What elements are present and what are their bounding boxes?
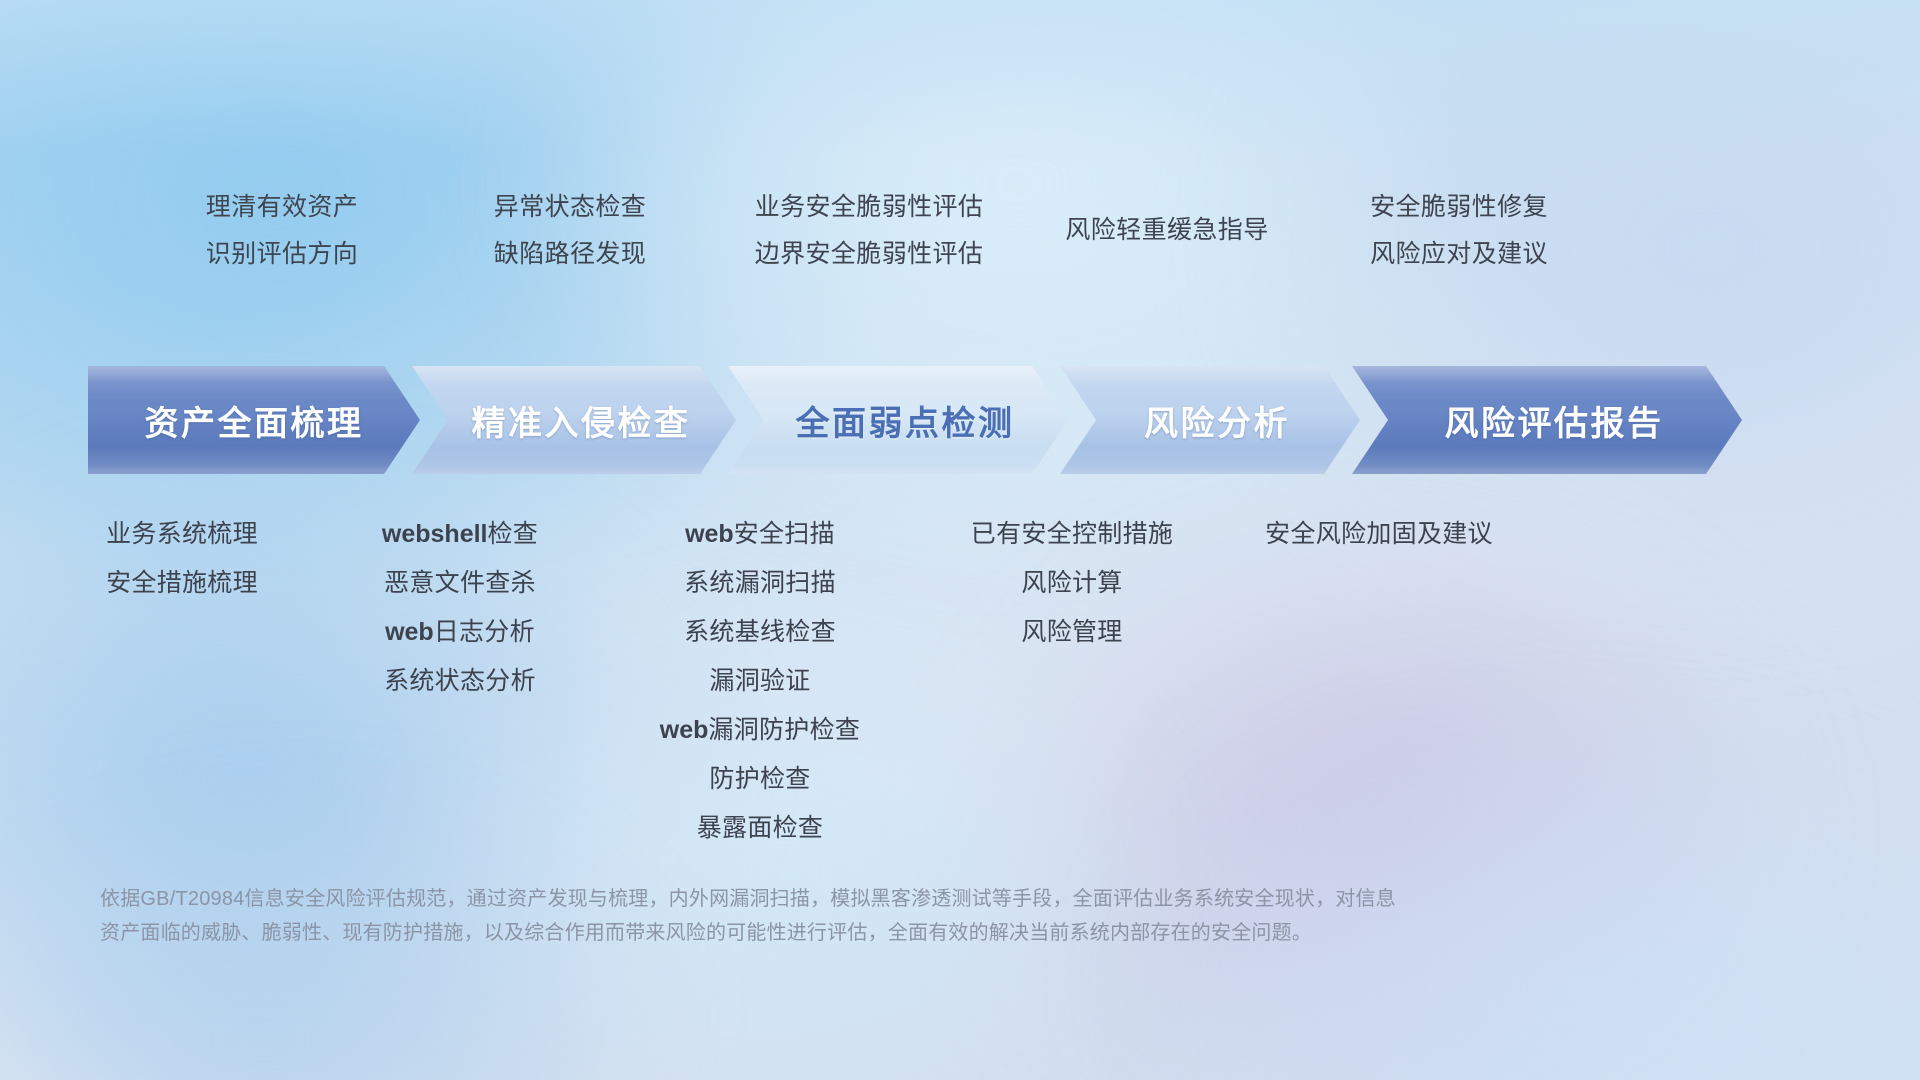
footer-description: 依据GB/T20984信息安全风险评估规范，通过资产发现与梳理，内外网漏洞扫描，… — [100, 882, 1640, 950]
bottom-items-intrusion-check: webshell检查恶意文件查杀web日志分析系统状态分析 — [382, 510, 538, 706]
bottom-item: 系统基线检查 — [660, 608, 860, 657]
top-note-item: 缺陷路径发现 — [494, 231, 646, 278]
bottom-item: web安全扫描 — [660, 510, 860, 559]
top-notes-asset-inventory: 理清有效资产识别评估方向 — [206, 184, 358, 278]
bottom-item: 安全风险加固及建议 — [1265, 510, 1493, 559]
top-notes-intrusion-check: 异常状态检查缺陷路径发现 — [494, 184, 646, 278]
bottom-items-asset-inventory: 业务系统梳理安全措施梳理 — [106, 510, 258, 608]
top-notes-risk-analysis: 风险轻重缓急指导 — [1065, 207, 1268, 254]
top-notes-weakness-detection: 业务安全脆弱性评估边界安全脆弱性评估 — [755, 184, 984, 278]
process-stage-weakness-detection[interactable]: 全面弱点检测 — [728, 366, 1068, 474]
footer-line-1: 依据GB/T20984信息安全风险评估规范，通过资产发现与梳理，内外网漏洞扫描，… — [100, 882, 1640, 916]
bottom-item: 漏洞验证 — [660, 657, 860, 706]
process-stage-risk-analysis[interactable]: 风险分析 — [1060, 366, 1360, 474]
bottom-item: web漏洞防护检查 — [660, 706, 860, 755]
stage-caption: 风险评估报告 — [1445, 396, 1664, 445]
process-diagram: 理清有效资产识别评估方向异常状态检查缺陷路径发现业务安全脆弱性评估边界安全脆弱性… — [0, 0, 1920, 1080]
bottom-item: web日志分析 — [382, 608, 538, 657]
top-note-item: 识别评估方向 — [206, 231, 358, 278]
bottom-items-risk-analysis: 已有安全控制措施风险计算风险管理 — [971, 510, 1173, 657]
bottom-item: 安全措施梳理 — [106, 559, 258, 608]
top-notes-row: 理清有效资产识别评估方向异常状态检查缺陷路径发现业务安全脆弱性评估边界安全脆弱性… — [90, 184, 1850, 294]
stage-caption: 风险分析 — [1144, 396, 1290, 445]
top-note-item: 业务安全脆弱性评估 — [755, 184, 984, 231]
stage-caption: 全面弱点检测 — [796, 396, 1015, 445]
process-stage-intrusion-check[interactable]: 精准入侵检查 — [412, 366, 736, 474]
bottom-item: 恶意文件查杀 — [382, 559, 538, 608]
bottom-item: 风险管理 — [971, 608, 1173, 657]
top-note-item: 理清有效资产 — [206, 184, 358, 231]
bottom-item: 风险计算 — [971, 559, 1173, 608]
bottom-item: 系统漏洞扫描 — [660, 559, 860, 608]
top-notes-assessment-report: 安全脆弱性修复风险应对及建议 — [1370, 184, 1548, 278]
top-note-item: 风险轻重缓急指导 — [1065, 207, 1268, 254]
bottom-item: 防护检查 — [660, 755, 860, 804]
top-note-item: 安全脆弱性修复 — [1370, 184, 1548, 231]
top-note-item: 风险应对及建议 — [1370, 231, 1548, 278]
bottom-item: 业务系统梳理 — [106, 510, 258, 559]
process-stage-assessment-report[interactable]: 风险评估报告 — [1352, 366, 1742, 474]
bottom-item: 暴露面检查 — [660, 804, 860, 853]
bottom-items-weakness-detection: web安全扫描系统漏洞扫描系统基线检查漏洞验证web漏洞防护检查防护检查暴露面检… — [660, 510, 860, 853]
top-note-item: 边界安全脆弱性评估 — [755, 231, 984, 278]
bottom-items-assessment-report: 安全风险加固及建议 — [1265, 510, 1493, 559]
stage-caption: 资产全面梳理 — [145, 396, 364, 445]
process-arrow-banner: 资产全面梳理精准入侵检查全面弱点检测风险分析风险评估报告 — [88, 366, 1852, 474]
bottom-item: 系统状态分析 — [382, 657, 538, 706]
bottom-item: webshell检查 — [382, 510, 538, 559]
stage-caption: 精准入侵检查 — [472, 396, 691, 445]
footer-line-2: 资产面临的威胁、脆弱性、现有防护措施，以及综合作用而带来风险的可能性进行评估，全… — [100, 916, 1640, 950]
bottom-item: 已有安全控制措施 — [971, 510, 1173, 559]
top-note-item: 异常状态检查 — [494, 184, 646, 231]
process-stage-asset-inventory[interactable]: 资产全面梳理 — [88, 366, 420, 474]
